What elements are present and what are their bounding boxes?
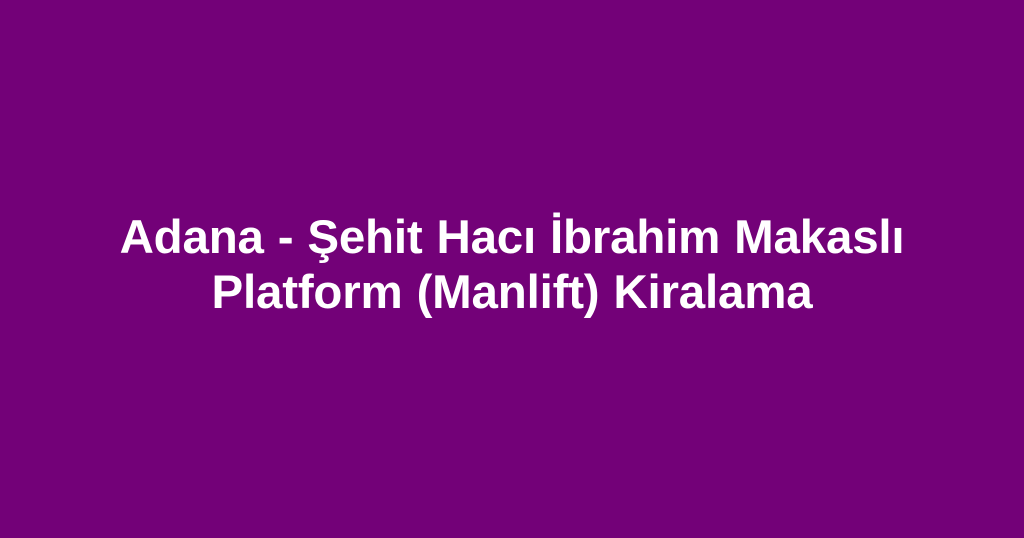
page-title: Adana - Şehit Hacı İbrahim Makaslı Platf… (72, 210, 952, 320)
page-title-line-2: Platform (Manlift) Kiralama (72, 265, 952, 320)
page-title-line-1: Adana - Şehit Hacı İbrahim Makaslı (72, 210, 952, 265)
headline-block: Adana - Şehit Hacı İbrahim Makaslı Platf… (72, 210, 952, 320)
share-card: Adana - Şehit Hacı İbrahim Makaslı Platf… (0, 0, 1024, 538)
